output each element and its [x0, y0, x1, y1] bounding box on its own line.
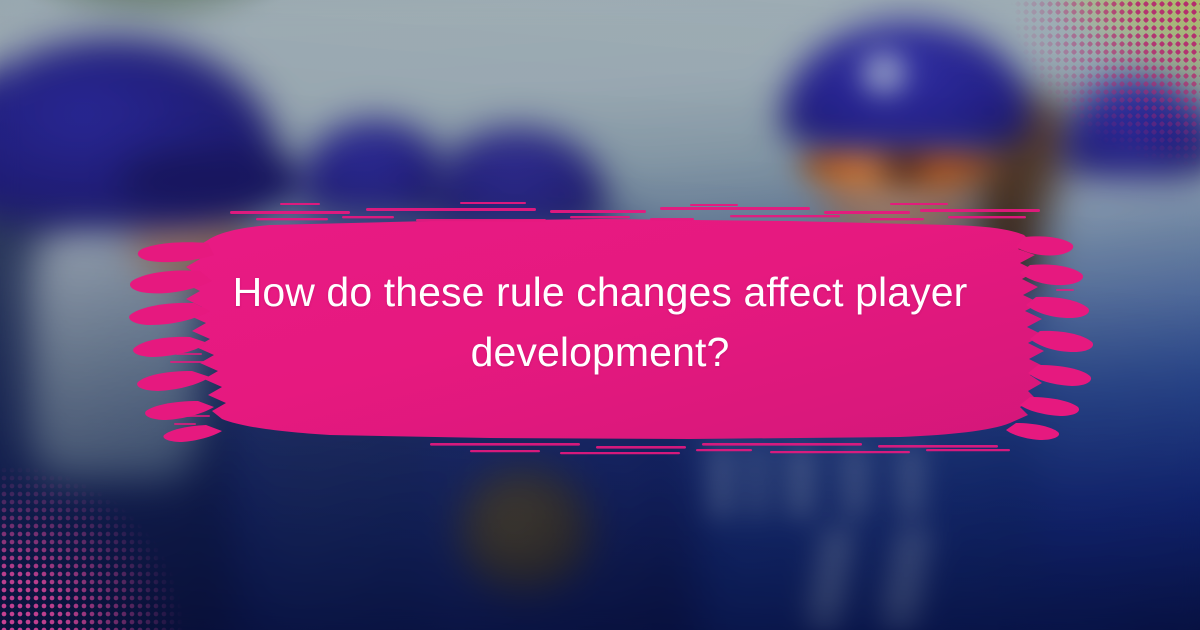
quote-text: How do these rule changes affect player … [180, 262, 1020, 382]
quote-card: How do these rule changes affect player … [0, 0, 1200, 630]
brush-bottom-streaks [430, 443, 1010, 454]
brush-top-streaks [230, 202, 1040, 221]
